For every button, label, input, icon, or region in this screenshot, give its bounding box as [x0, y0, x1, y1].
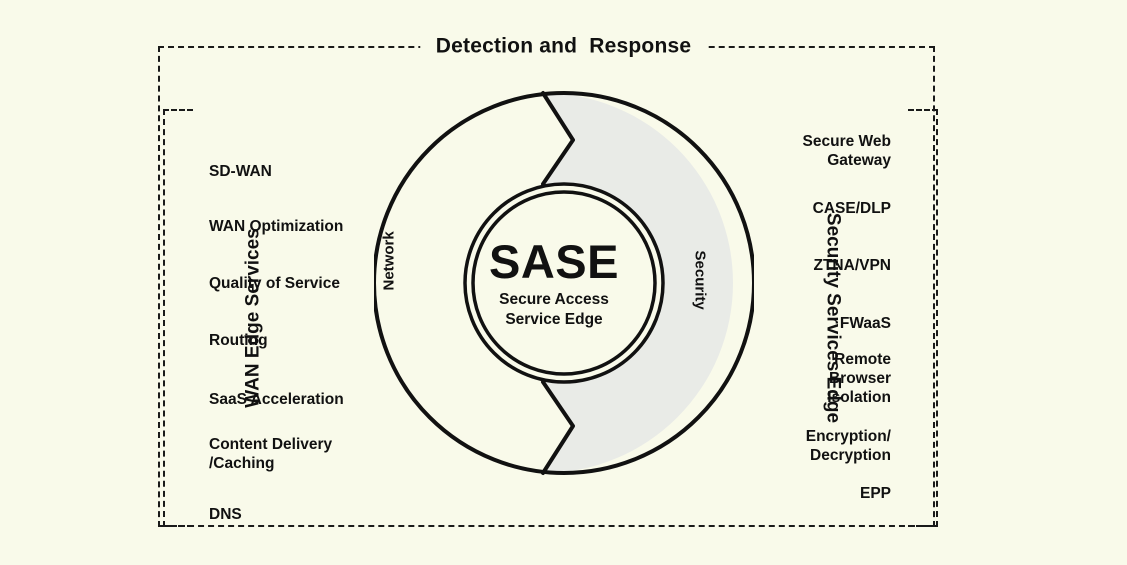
list-item: FWaaS — [840, 315, 891, 334]
diagram-canvas: Detection and Response WAN Edge Services… — [0, 0, 1127, 565]
list-item: SaaS Acceleration — [209, 391, 344, 410]
list-item: Secure Web Gateway — [803, 133, 891, 171]
list-item: CASE/DLP — [813, 200, 891, 219]
list-item: SD-WAN — [209, 163, 272, 182]
sase-core: SASE Secure Access Service Edge — [464, 238, 644, 330]
list-item: Quality of Service — [209, 275, 340, 294]
list-item: Content Delivery /Caching — [209, 436, 332, 474]
list-item: WAN Optimization — [209, 218, 343, 237]
list-item: EPP — [860, 485, 891, 504]
security-ring-label: Security — [693, 251, 708, 310]
wan-edge-services-bracket: WAN Edge Services — [163, 109, 193, 527]
list-item: Remote Browser Isolation — [827, 351, 891, 408]
network-ring-label: Network — [382, 231, 397, 290]
sase-core-title: SASE — [464, 238, 644, 286]
list-item: Routing — [209, 332, 268, 351]
security-services-edge-bracket: Security Services Edge — [908, 109, 938, 527]
list-item: ZTNA/VPN — [814, 257, 892, 276]
list-item: Encryption/ Decryption — [806, 428, 891, 466]
sase-core-subtitle: Secure Access Service Edge — [464, 290, 644, 330]
diagram-title: Detection and Response — [420, 36, 707, 57]
list-item: DNS — [209, 506, 242, 525]
